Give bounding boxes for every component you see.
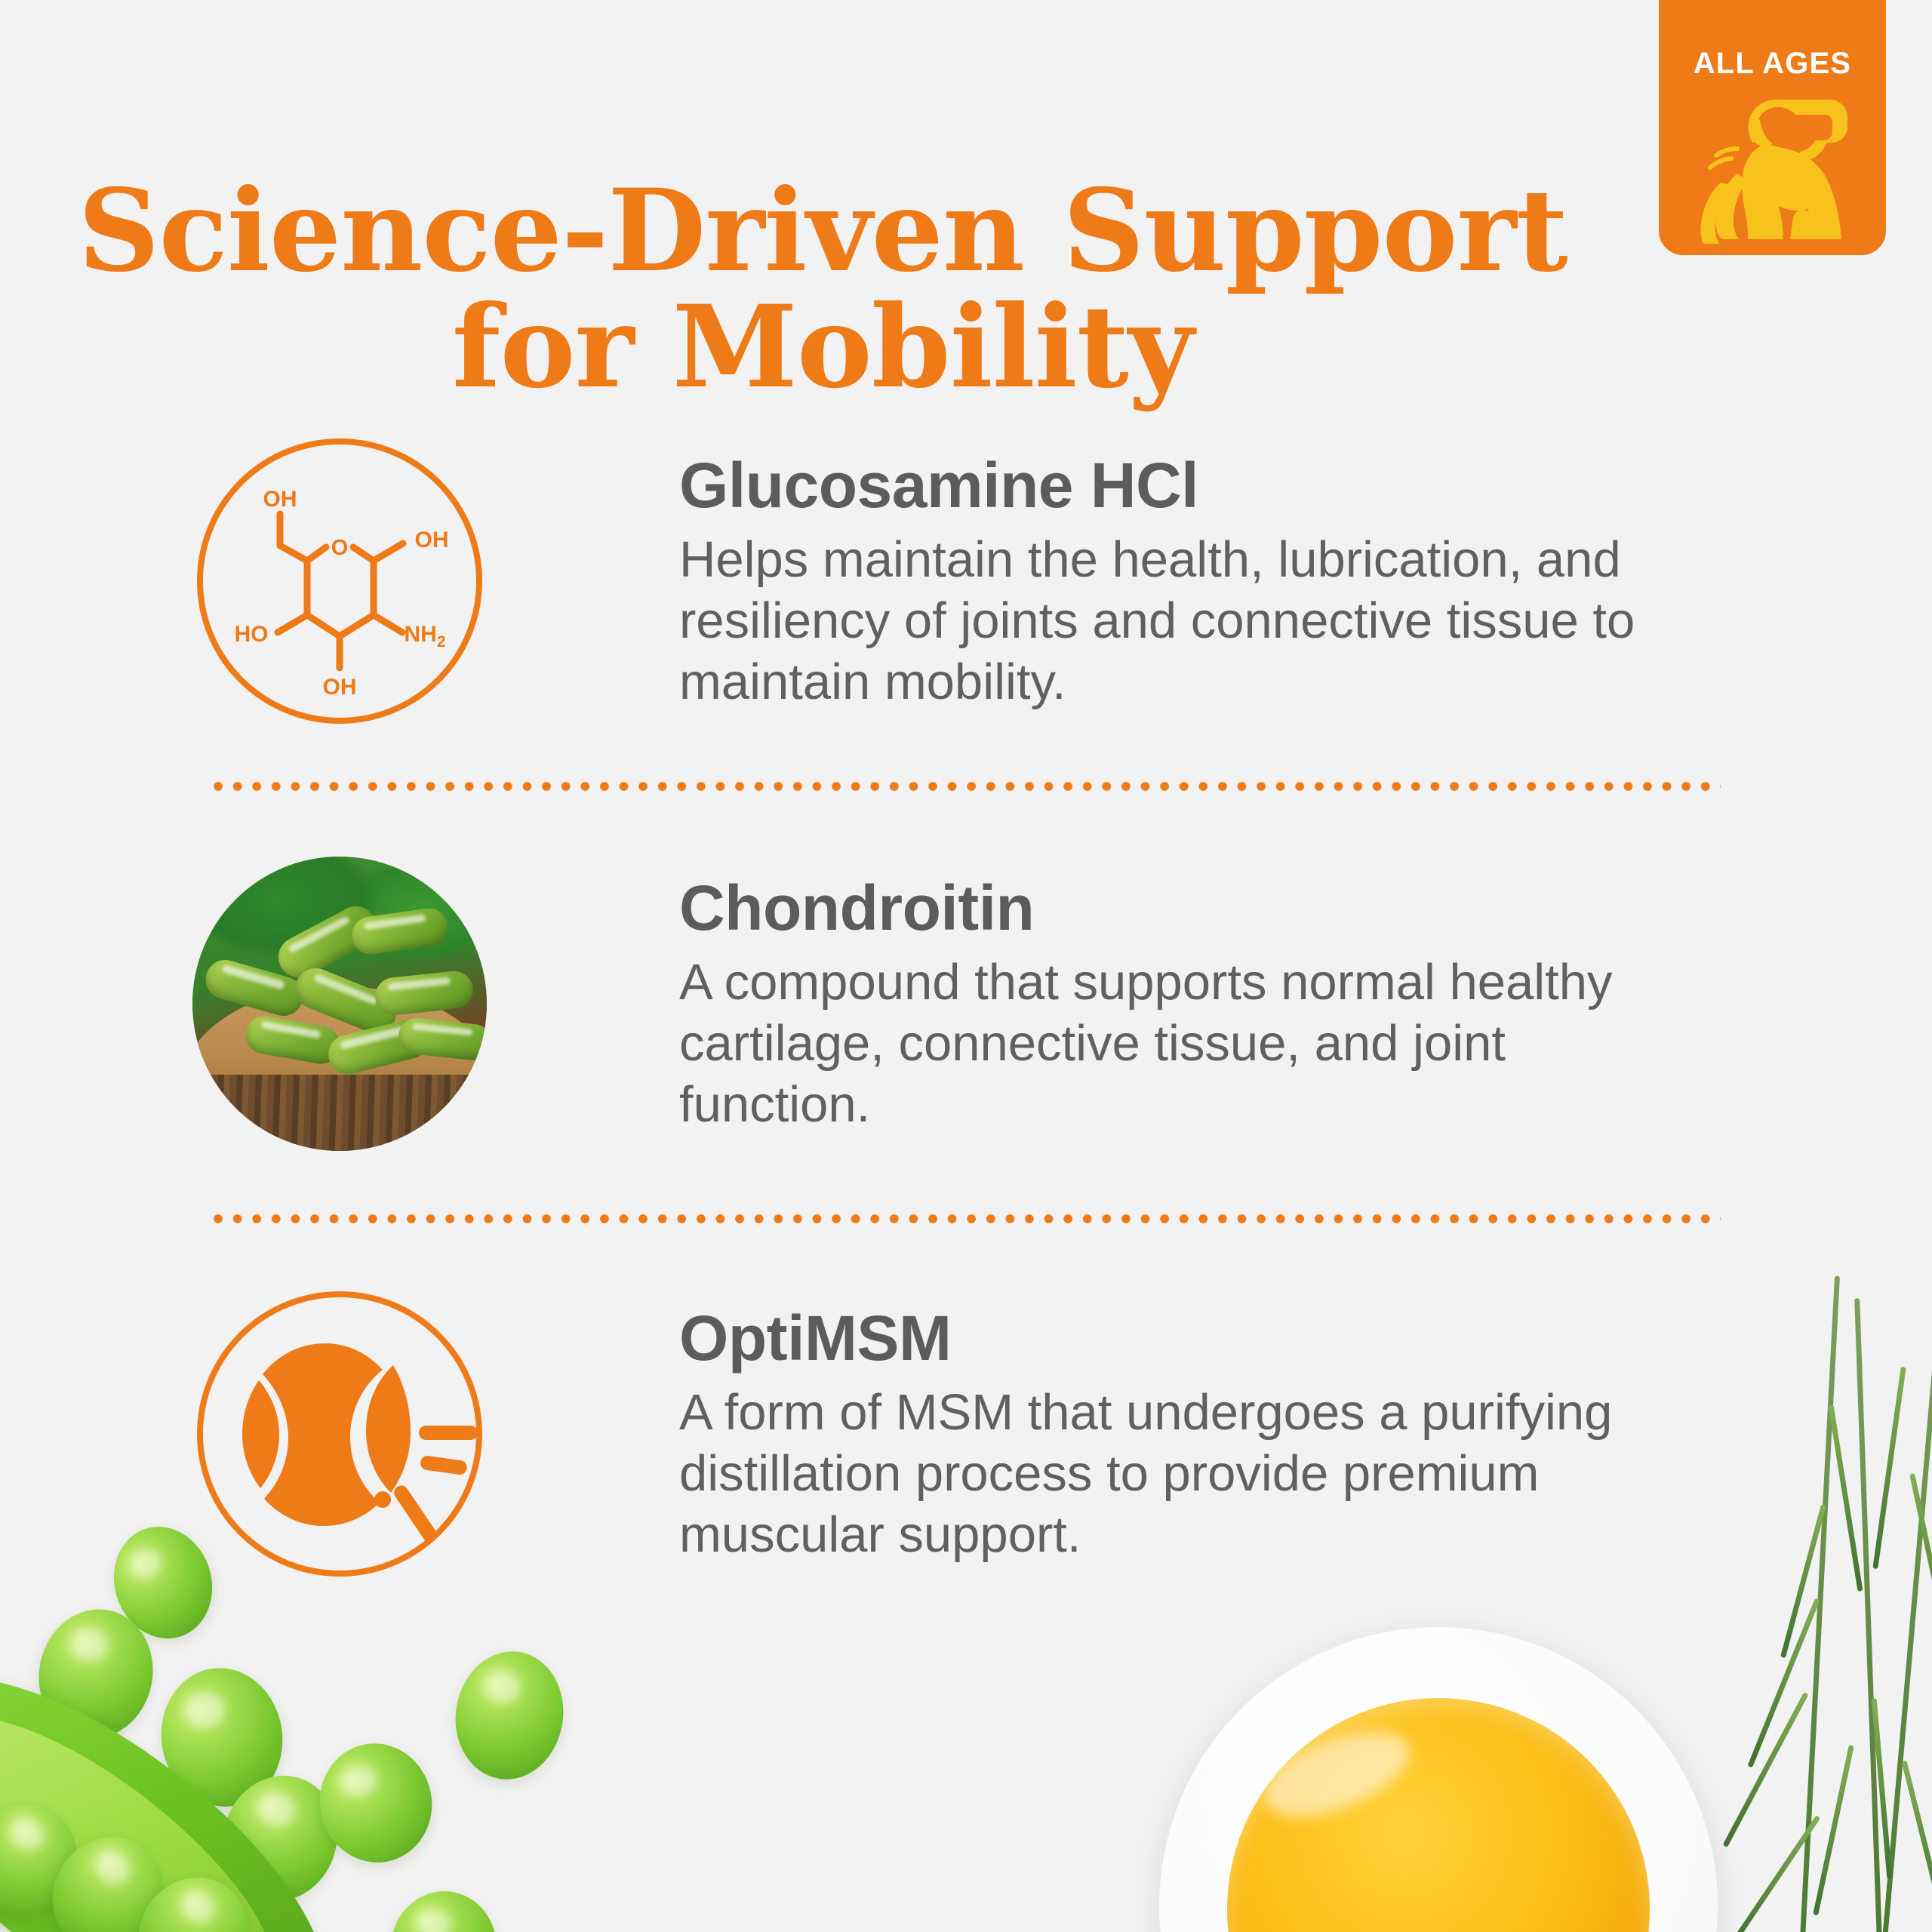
- all-ages-badge: ALL AGES: [1659, 0, 1886, 255]
- label-ho-left: HO: [235, 622, 269, 647]
- ingredient-description-glucosamine: Helps maintain the health, lubrication, …: [679, 529, 1653, 712]
- ingredient-row-optimsm: OptiMSM A form of MSM that undergoes a p…: [0, 1287, 1932, 1755]
- green-capsules-photo: [192, 857, 487, 1151]
- label-oh-topleft: OH: [263, 487, 297, 512]
- ingredient-title-glucosamine: Glucosamine HCl: [679, 454, 1683, 518]
- text-column: OptiMSM A form of MSM that undergoes a p…: [679, 1287, 1683, 1565]
- label-ring-oxygen: O: [331, 536, 349, 560]
- infographic-canvas: ALL AGES Science-Driven: [0, 0, 1932, 1932]
- badge-label: ALL AGES: [1659, 47, 1886, 81]
- page-title: Science-Driven Support for Mobility: [0, 173, 1645, 406]
- ingredient-title-chondroitin: Chondroitin: [679, 876, 1683, 941]
- text-column: Chondroitin A compound that supports nor…: [679, 857, 1683, 1135]
- icon-column: OH O OH HO OH NH2: [0, 434, 679, 728]
- ingredient-description-optimsm: A form of MSM that undergoes a purifying…: [679, 1382, 1653, 1565]
- icon-column: [0, 1287, 679, 1581]
- bouncing-tennis-ball-icon: [192, 1287, 487, 1581]
- text-column: Glucosamine HCl Helps maintain the healt…: [679, 434, 1683, 712]
- ingredient-description-chondroitin: A compound that supports normal healthy …: [679, 952, 1653, 1135]
- ingredient-list: OH O OH HO OH NH2 Glucosamine HCl Helps …: [0, 434, 1932, 1755]
- ingredient-row-chondroitin: Chondroitin A compound that supports nor…: [0, 857, 1932, 1287]
- ingredient-title-optimsm: OptiMSM: [679, 1306, 1683, 1371]
- label-oh-right: OH: [415, 528, 449, 552]
- label-oh-bottom: OH: [323, 675, 357, 700]
- glucosamine-molecule-icon: OH O OH HO OH NH2: [192, 434, 487, 728]
- title-line-1: Science-Driven Support: [0, 173, 1645, 290]
- title-line-2: for Mobility: [0, 289, 1645, 406]
- sitting-dog-silhouette-icon: [1687, 89, 1861, 244]
- icon-column: [0, 857, 679, 1151]
- label-nh2: NH2: [404, 622, 445, 651]
- ingredient-row-glucosamine: OH O OH HO OH NH2 Glucosamine HCl Helps …: [0, 434, 1932, 857]
